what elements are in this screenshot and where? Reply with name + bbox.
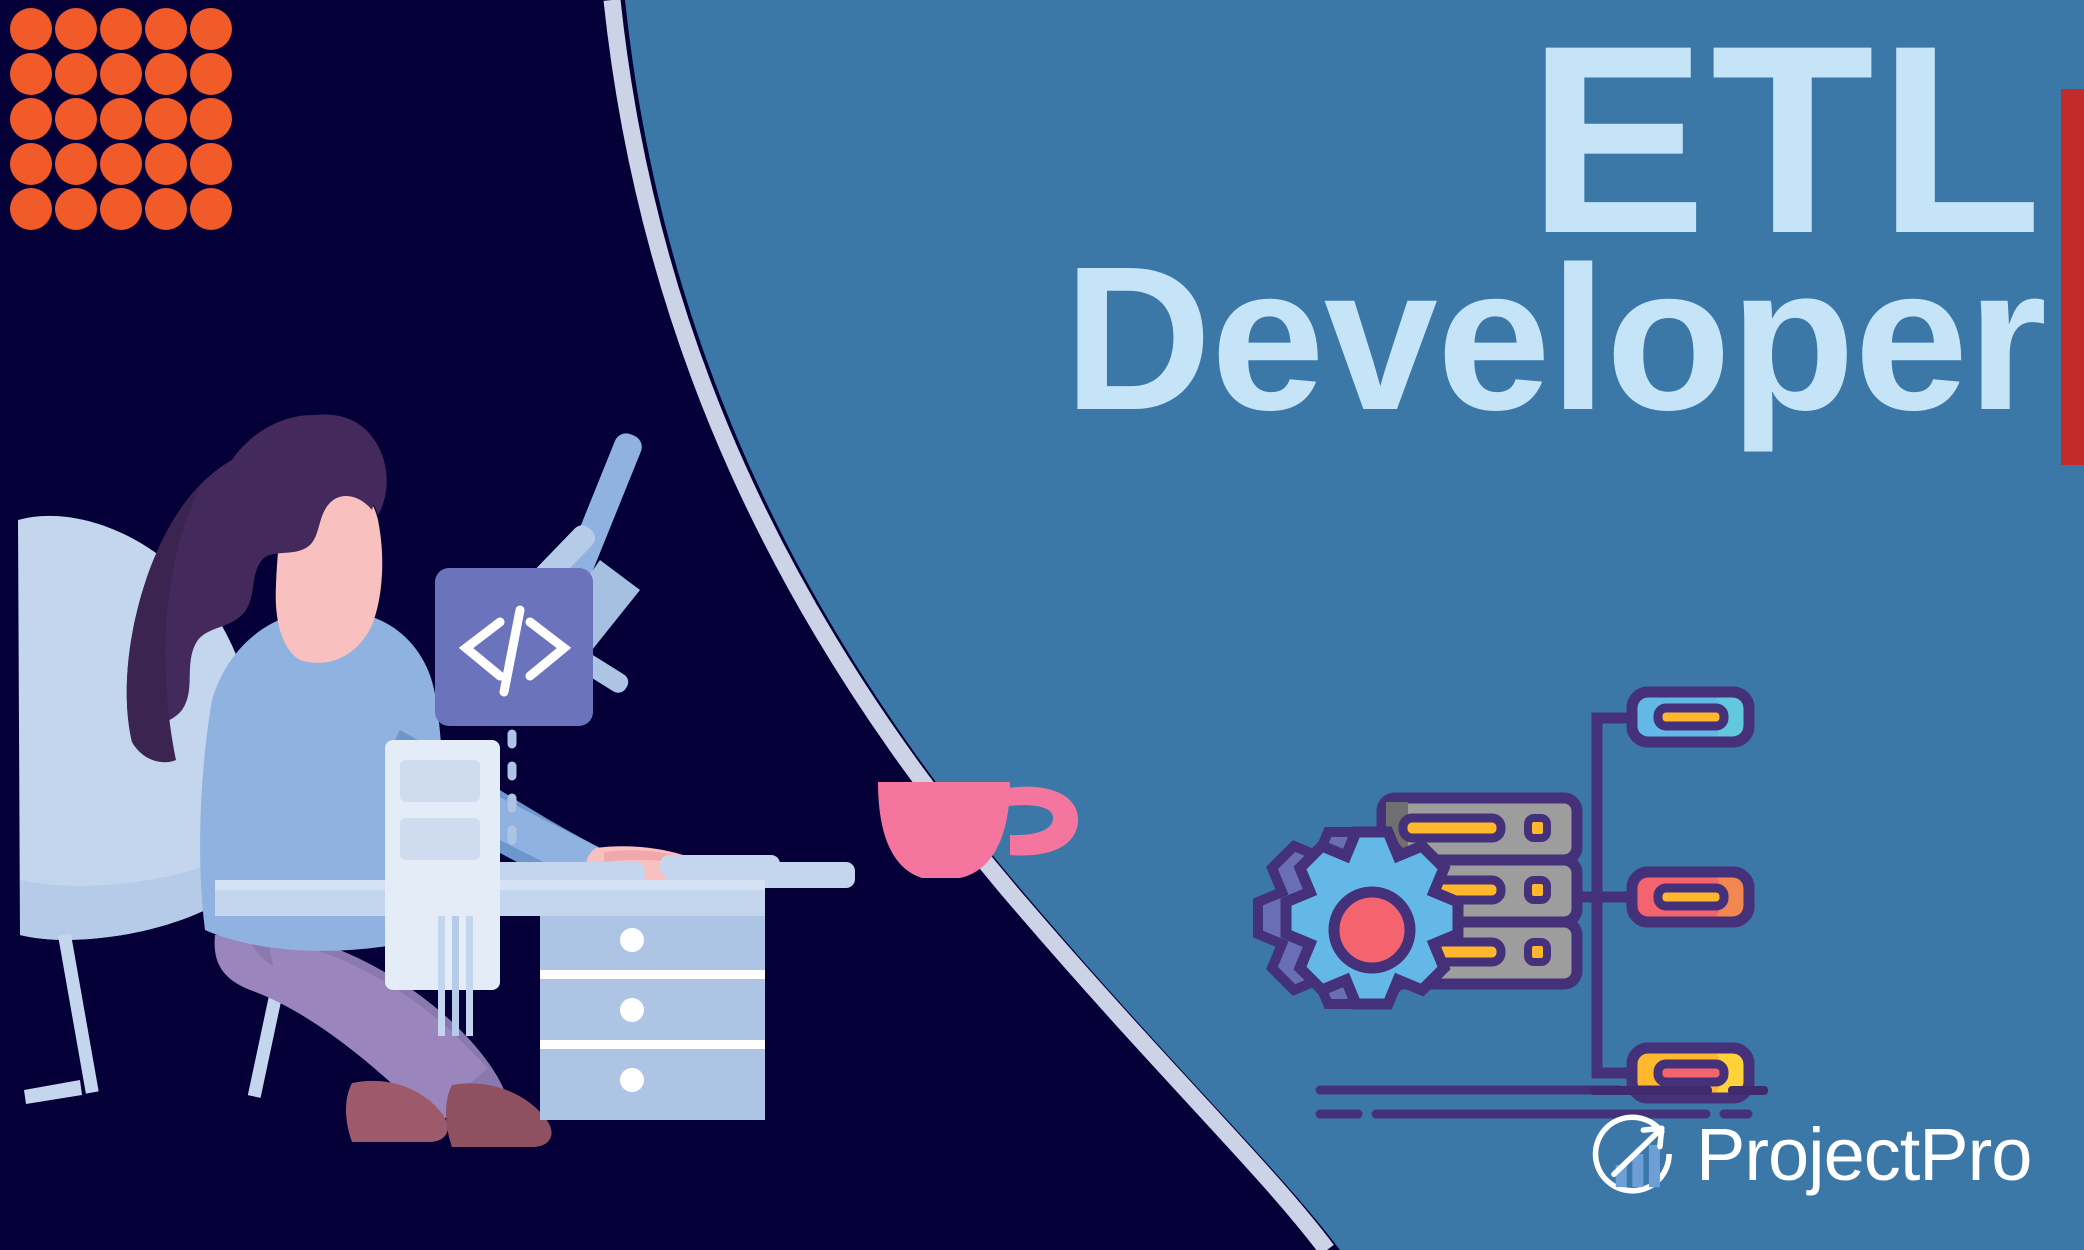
gear-settings: [1258, 832, 1458, 1004]
banner-canvas: ETL Developer ProjectPro: [0, 0, 2084, 1250]
output-node-coral: [1632, 872, 1749, 922]
brand-logo[interactable]: ProjectPro: [1590, 1108, 2031, 1200]
growth-chart-circle-icon: [1590, 1108, 1682, 1200]
output-node-blue: [1632, 692, 1749, 742]
brand-name: ProjectPro: [1696, 1112, 2031, 1197]
red-accent-bar: [2061, 89, 2084, 465]
logo-accent-dash-long: [1590, 1086, 1712, 1095]
headline-line-2: Developer: [826, 245, 2046, 434]
logo-accent-dash-short: [1728, 1086, 1768, 1095]
page-title: ETL Developer: [826, 16, 2046, 433]
